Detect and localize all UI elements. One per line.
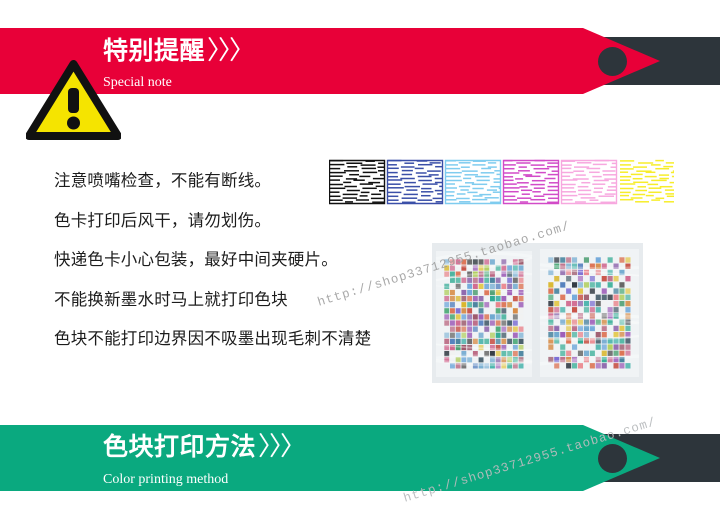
banner-text-group: 色块打印方法〉〉〉 Color printing method [103, 425, 304, 488]
banner-subtitle: Color printing method [103, 472, 304, 488]
chevron-right-icon: 〉〉〉 [207, 36, 253, 66]
banner-title-cn: 色块打印方法 [103, 432, 256, 461]
banner-dot-icon [598, 47, 627, 76]
banner-dot-icon [598, 444, 627, 473]
banner-title: 特别提醒〉〉〉 [103, 38, 253, 64]
note-line: 不能换新墨水时马上就打印色块 [54, 292, 434, 309]
banner-title: 色块打印方法〉〉〉 [103, 434, 304, 460]
note-line: 快递色卡小心包装，最好中间夹硬片。 [54, 252, 434, 269]
nozzle-check-pattern [329, 159, 685, 205]
warning-triangle-icon [26, 60, 121, 140]
note-line: 色块不能打印边界因不吸墨出现毛刺不清楚 [54, 331, 434, 348]
banner-text-group: 特别提醒〉〉〉 Special note [103, 28, 253, 91]
chevron-right-icon: 〉〉〉 [258, 432, 304, 462]
color-printing-method-banner: 色块打印方法〉〉〉 Color printing method [0, 425, 720, 491]
color-swatch-cards-photo [432, 243, 643, 383]
note-line: 色卡打印后风干，请勿划伤。 [54, 213, 434, 230]
page-root: 特别提醒〉〉〉 Special note 注意喷嘴检查，不能有断线。 色卡打印后… [0, 0, 720, 506]
banner-subtitle: Special note [103, 75, 253, 91]
banner-arrow-shape [0, 425, 660, 491]
